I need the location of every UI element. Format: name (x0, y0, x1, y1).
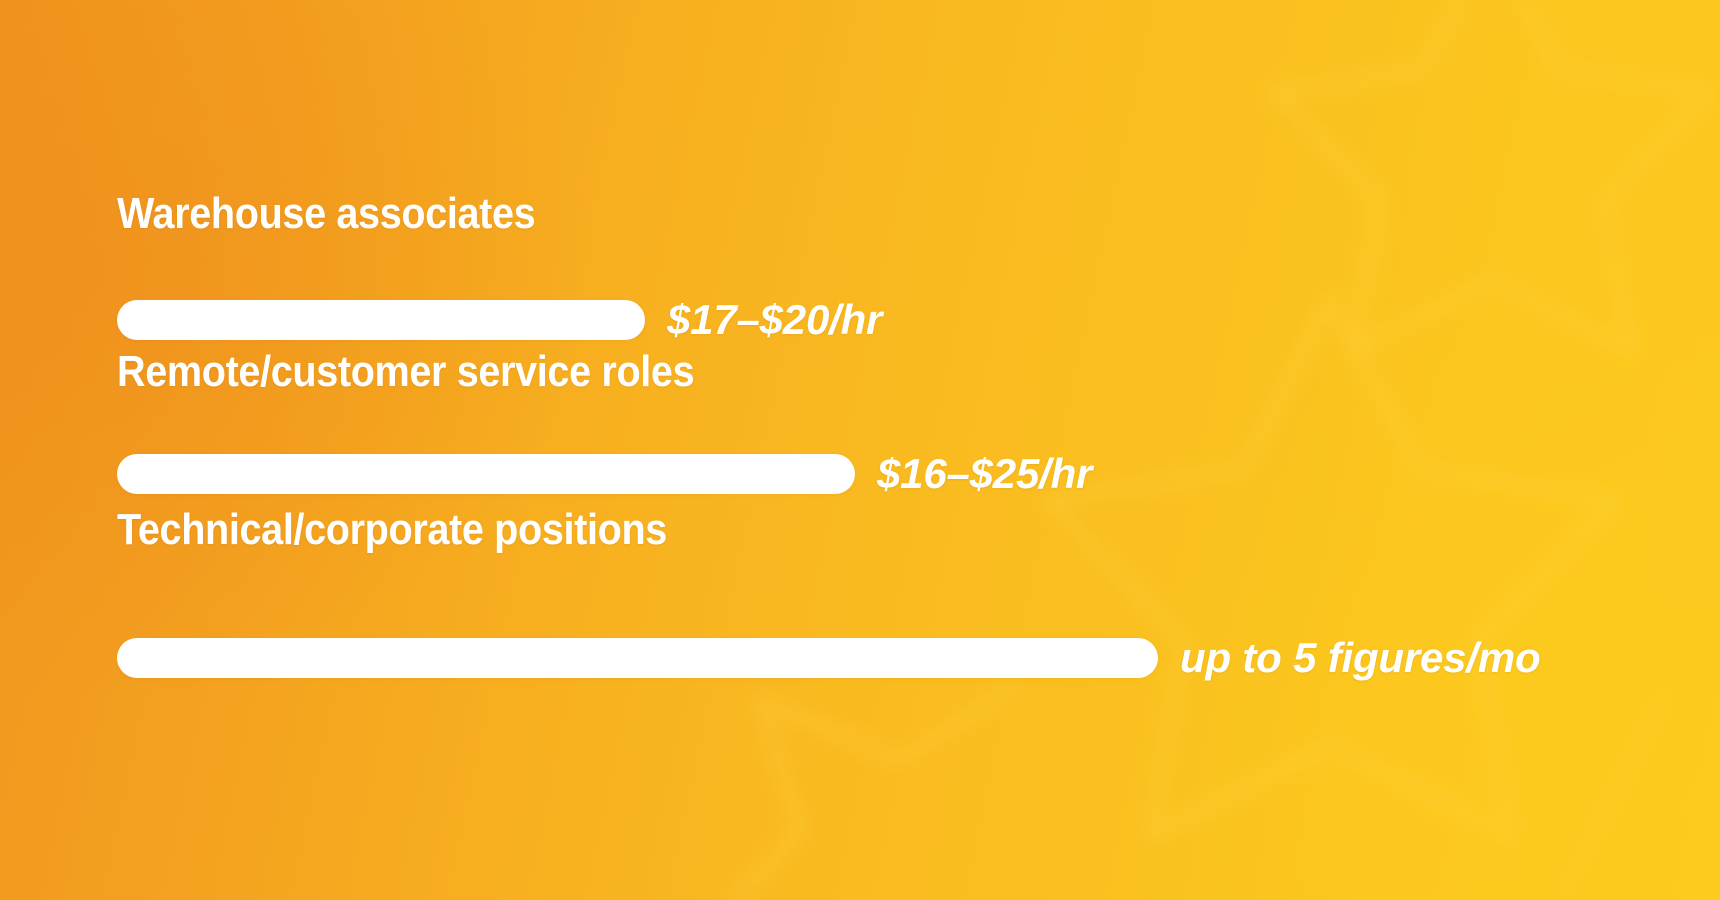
bar-category-label: Warehouse associates (117, 192, 535, 236)
bar-track (117, 454, 855, 494)
bar-value-label: up to 5 figures/mo (1180, 638, 1540, 678)
bar-track (117, 638, 1158, 678)
bar-track (117, 300, 645, 340)
salary-range-bar-chart: Warehouse associates $17–$20/hr Remote/c… (0, 0, 1720, 900)
bar-value-label: $16–$25/hr (877, 454, 1092, 494)
bar-category-label: Technical/corporate positions (117, 508, 667, 552)
bar-value-label: $17–$20/hr (667, 300, 882, 340)
bar-group: $17–$20/hr (117, 300, 882, 340)
bar-category-label: Remote/customer service roles (117, 350, 694, 394)
bar-group: $16–$25/hr (117, 454, 1092, 494)
bar-group: up to 5 figures/mo (117, 638, 1540, 678)
